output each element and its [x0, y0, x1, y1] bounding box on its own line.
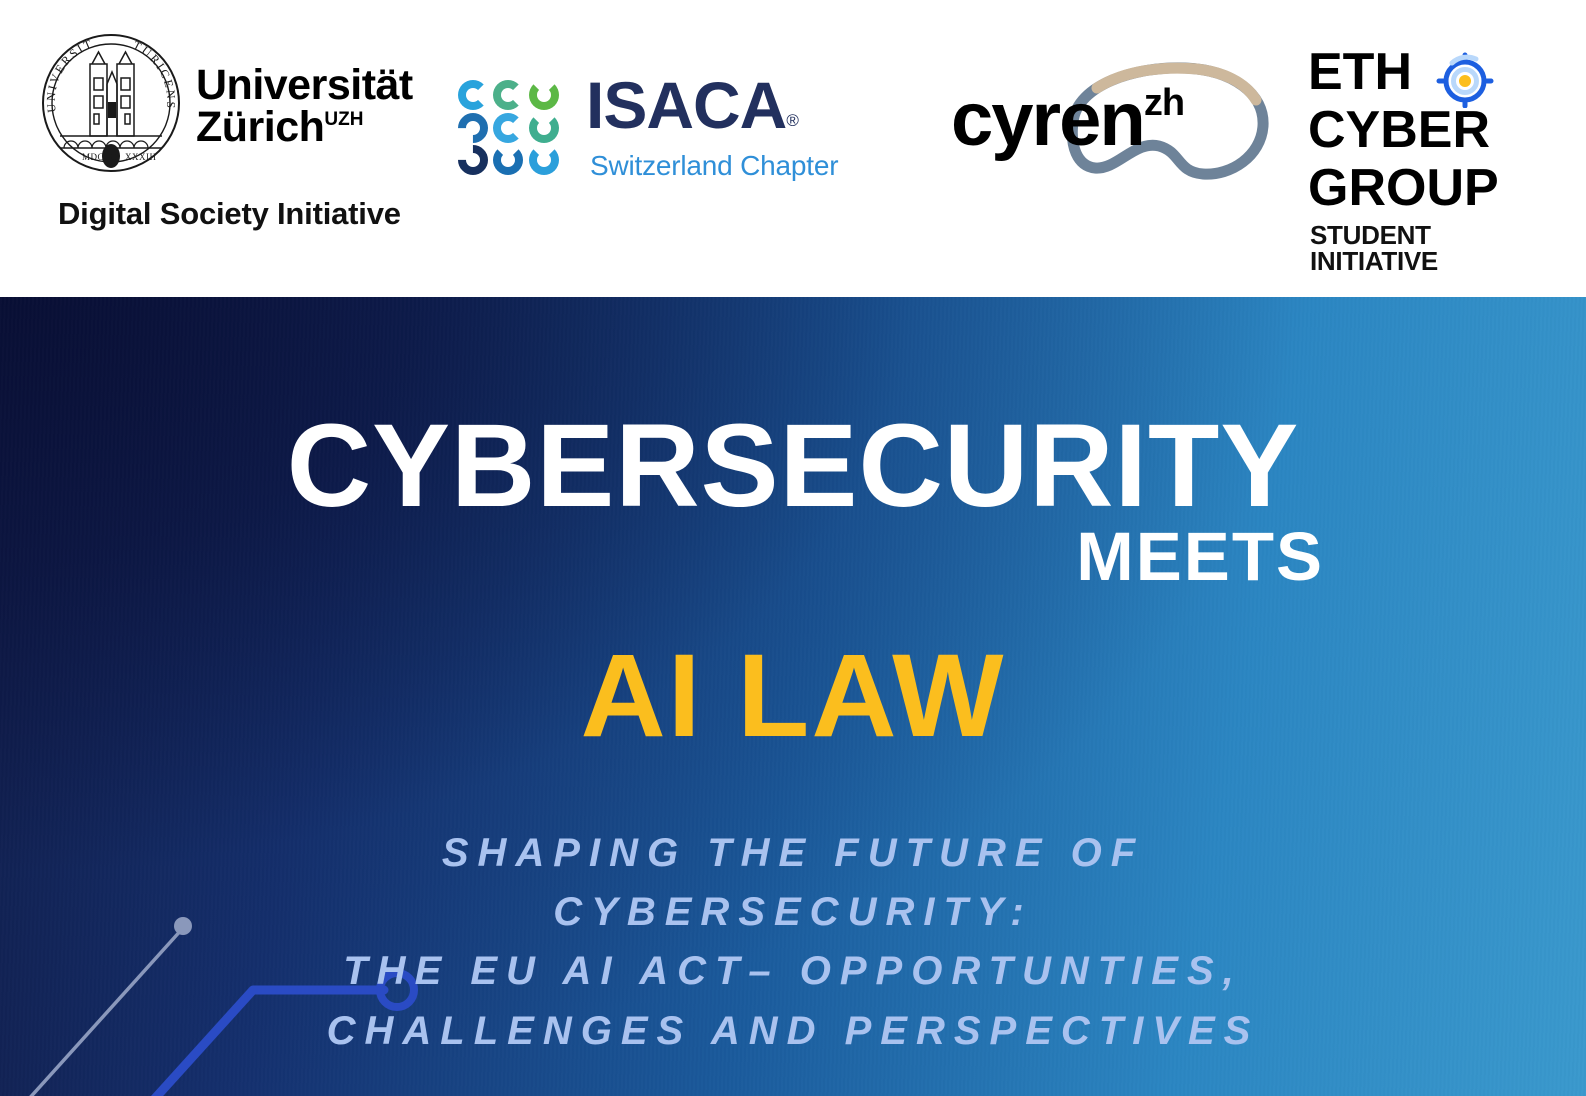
page-title: CYBERSECURITY [8, 407, 1578, 525]
svg-text:UNIVERSITAS: UNIVERSITAS [40, 32, 95, 113]
cyren-wordmark: cyrenzh [951, 82, 1184, 158]
cyren-wordmark-text: cyren [951, 77, 1144, 162]
eth-logo-line2: CYBER [1308, 104, 1490, 156]
isaca-c-4 [493, 113, 523, 143]
isaca-logo: ISACA® Switzerland Chapter [458, 72, 878, 202]
eth-logo-line3: GROUP [1308, 162, 1499, 214]
subtitle-line-1: SHAPING THE FUTURE OF [0, 824, 1586, 883]
uzh-tagline: Digital Society Initiative [58, 196, 401, 232]
isaca-c-7 [493, 145, 523, 175]
headline-block: CYBERSECURITY MEETS AI LAW SHAPING THE F… [0, 297, 1586, 1096]
uzh-seal-icon: MDCCC XXXIII UNIVERSITAS TURICENSIS [40, 32, 182, 174]
subtitle-line-2: CYBERSECURITY: [0, 883, 1586, 942]
isaca-wordmark: ISACA® [586, 72, 798, 138]
subtitle-line-4: CHALLENGES AND PERSPECTIVES [0, 1002, 1586, 1061]
uzh-wordmark-superscript: UZH [324, 109, 363, 130]
eth-cyber-group-logo: ETH CYBER GROUP STUDENT INITIATIVE [1308, 46, 1548, 276]
isaca-grid-icon [458, 80, 562, 176]
svg-text:MDCCC: MDCCC [82, 152, 117, 162]
isaca-registered-mark: ® [786, 111, 798, 130]
isaca-c-5 [529, 113, 559, 143]
isaca-wordmark-text: ISACA [586, 68, 786, 142]
hero-banner: CYBERSECURITY MEETS AI LAW SHAPING THE F… [0, 297, 1586, 1096]
uzh-logo: MDCCC XXXIII UNIVERSITAS TURICENSIS Univ… [38, 26, 438, 241]
isaca-c-0 [458, 80, 488, 110]
subtitle-line-3: THE EU AI ACT– OPPORTUNTIES, [0, 942, 1586, 1001]
uzh-wordmark-line1: Universität [196, 61, 413, 109]
cyren-logo: cyrenzh [945, 60, 1275, 200]
isaca-chapter-subtitle: Switzerland Chapter [590, 150, 838, 182]
cyren-superscript-zh: zh [1144, 82, 1184, 124]
eth-logo-line1: ETH [1308, 46, 1412, 98]
isaca-c-3 [452, 106, 494, 148]
isaca-c-6 [452, 139, 494, 181]
sponsor-logo-band: MDCCC XXXIII UNIVERSITAS TURICENSIS Univ… [0, 0, 1586, 297]
event-poster: MDCCC XXXIII UNIVERSITAS TURICENSIS Univ… [0, 0, 1586, 1096]
svg-text:XXXIII: XXXIII [125, 152, 157, 162]
crosshair-target-icon [1436, 50, 1494, 108]
uzh-wordmark-line2: Zürich [196, 103, 324, 151]
isaca-c-8 [529, 145, 559, 175]
title-meets: MEETS [1076, 522, 1324, 591]
title-ai-law: AI LAW [0, 637, 1586, 755]
event-subtitle: SHAPING THE FUTURE OF CYBERSECURITY: THE… [0, 824, 1586, 1061]
isaca-c-2 [529, 80, 559, 110]
eth-logo-line4: STUDENT INITIATIVE [1310, 222, 1548, 274]
uzh-wordmark: Universität ZürichUZH [196, 64, 486, 148]
isaca-c-1 [493, 80, 523, 110]
